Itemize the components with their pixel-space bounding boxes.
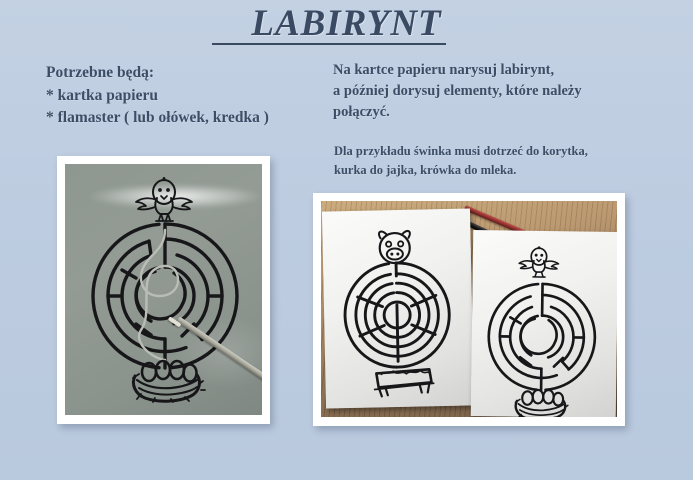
photo-right-two-mazes — [313, 193, 625, 426]
nest-with-eggs-drawing — [127, 360, 207, 402]
materials-text-block: Potrzebne będą: * kartka papieru * flama… — [46, 62, 269, 130]
photo-right-scene — [321, 201, 617, 417]
example-text-block: Dla przykładu świnka musi dotrzeć do kor… — [334, 142, 588, 180]
page-title-underline — [212, 43, 446, 45]
circular-maze — [341, 259, 453, 371]
trough-drawing — [371, 364, 436, 397]
slide-background: LABIRYNT Potrzebne będą: * kartka papier… — [0, 0, 693, 480]
page-title: LABIRYNT — [0, 2, 693, 45]
circular-maze — [485, 280, 599, 394]
photo-left-scene — [65, 164, 262, 415]
photo-left-maze-chick — [57, 156, 270, 424]
chick-drawing — [127, 178, 201, 224]
instruction-text-block: Na kartce papieru narysuj labirynt, a pó… — [333, 60, 582, 123]
nest-with-eggs-drawing — [511, 389, 571, 417]
chick-drawing — [513, 245, 565, 282]
sheet-chick-maze — [471, 230, 617, 417]
sheet-pig-maze — [322, 208, 474, 408]
